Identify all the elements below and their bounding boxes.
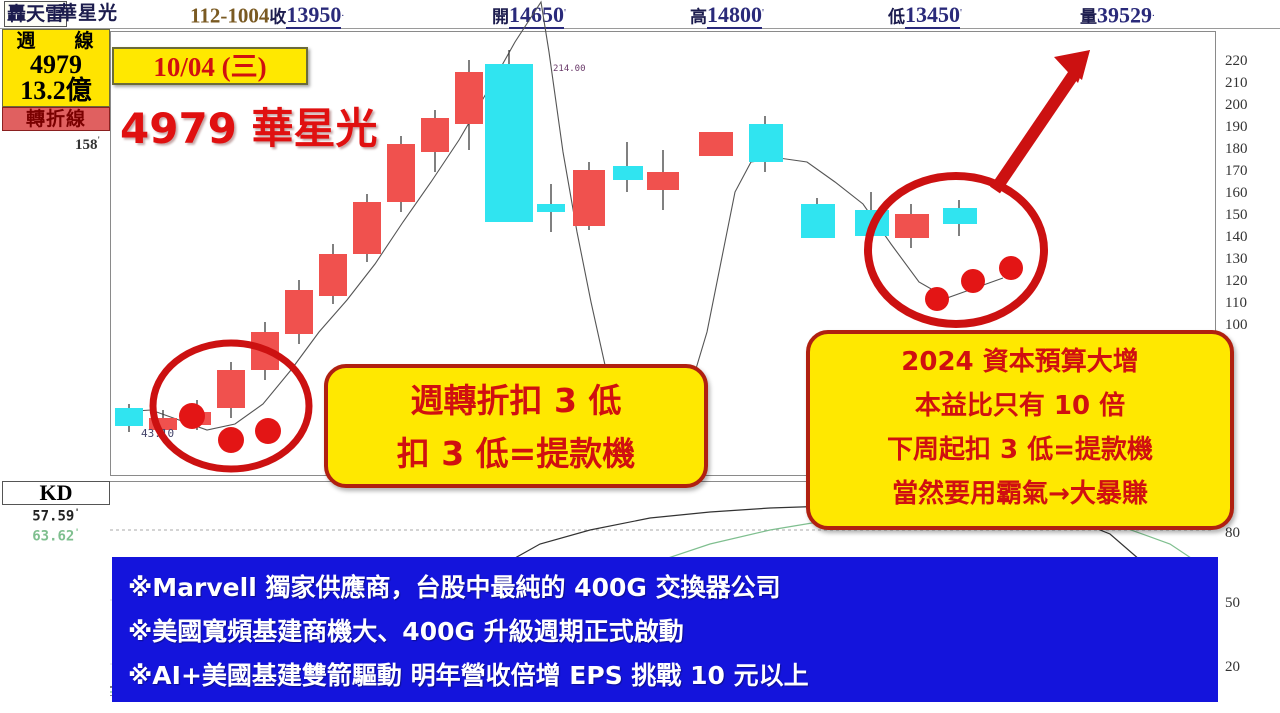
blue-banner-line-2: ※美國寬頻基建商機大、400G 升級週期正式啟動 <box>128 610 1216 654</box>
kd-d-value: 63.62' <box>2 525 110 545</box>
quote-date-close: 112-1004收13950. <box>190 1 344 30</box>
kd-axis-label: 80 <box>1225 526 1240 540</box>
quote-open: 開14650' <box>492 1 566 30</box>
quote-bar: 轟天雷 華星光 112-1004收13950. 開14650' 高14800' … <box>0 0 1280 29</box>
turnover-value: 13.2億 <box>3 78 109 104</box>
axis-label: 120 <box>1225 274 1248 288</box>
candle <box>353 194 381 262</box>
callout-right-line-1: 2024 資本預算大增 <box>824 340 1216 384</box>
axis-label: 210 <box>1225 76 1248 90</box>
date-badge: 10/04 (三) <box>112 47 308 85</box>
quote-volume-value: 39529 <box>1097 2 1152 27</box>
blue-banner-line-3: ※AI+美國基建雙箭驅動 明年營收倍增 EPS 挑戰 10 元以上 <box>128 654 1216 698</box>
candle <box>387 136 415 212</box>
candle <box>319 244 347 304</box>
axis-label: 160 <box>1225 186 1248 200</box>
callout-left: 週轉折扣 3 低 扣 3 低=提款機 <box>324 364 708 488</box>
kd-title[interactable]: KD <box>2 481 110 505</box>
left-info-column: 週 線 4979 13.2億 轉折線 158' <box>2 29 110 154</box>
period-label: 週 線 <box>3 31 109 52</box>
blue-banner-line-1: ※Marvell 獨家供應商，台股中最純的 400G 交換器公司 <box>128 566 1216 610</box>
candle <box>943 200 977 236</box>
stock-chart-screen: 轟天雷 華星光 112-1004收13950. 開14650' 高14800' … <box>0 0 1280 713</box>
stock-code: 4979 <box>3 52 109 78</box>
quote-high-value: 14800 <box>707 2 762 29</box>
callout-right-line-3: 下周起扣 3 低=提款機 <box>824 428 1216 472</box>
axis-label: 130 <box>1225 252 1248 266</box>
kd-axis-label: 20 <box>1225 660 1240 674</box>
quote-high-label: 高 <box>690 7 707 27</box>
candle <box>421 110 449 172</box>
candle <box>455 60 483 150</box>
candle <box>573 162 605 230</box>
kd-k-value: 57.59' <box>2 505 110 525</box>
candle <box>485 50 533 222</box>
callout-right-line-2: 本益比只有 10 倍 <box>824 384 1216 428</box>
indicator-value: 158' <box>2 131 110 154</box>
axis-label: 100 <box>1225 318 1248 332</box>
quote-volume: 量39529. <box>1080 1 1155 30</box>
axis-label: 140 <box>1225 230 1248 244</box>
kd-info-box: KD 57.59' 63.62' <box>2 481 110 544</box>
candle <box>749 116 783 172</box>
kd-axis-label: 50 <box>1225 596 1240 610</box>
candle <box>699 132 733 156</box>
candle <box>801 198 835 238</box>
quote-open-label: 開 <box>492 7 509 27</box>
quote-low: 低13450' <box>888 1 962 30</box>
quote-stock-name: 華星光 <box>58 1 118 25</box>
high-price-marker: 214.00 <box>553 64 586 74</box>
axis-label: 150 <box>1225 208 1248 222</box>
axis-label: 190 <box>1225 120 1248 134</box>
indicator-name-banner[interactable]: 轉折線 <box>2 107 110 131</box>
callout-right: 2024 資本預算大增 本益比只有 10 倍 下周起扣 3 低=提款機 當然要用… <box>806 330 1234 530</box>
quote-low-value: 13450 <box>905 2 960 29</box>
quote-low-label: 低 <box>888 7 905 27</box>
candle <box>895 204 929 248</box>
candle <box>217 362 245 418</box>
candle <box>647 150 679 210</box>
callout-right-line-4: 當然要用霸氣→大暴賺 <box>824 472 1216 516</box>
candle <box>285 280 313 344</box>
candle <box>115 404 143 432</box>
quote-close-value: 13950 <box>286 2 341 29</box>
quote-close-label: 收 <box>269 7 286 27</box>
quote-date-code: 112-1004 <box>190 3 269 27</box>
blue-info-banner: ※Marvell 獨家供應商，台股中最純的 400G 交換器公司 ※美國寬頻基建… <box>112 557 1218 702</box>
indicator-value-text: 158 <box>75 137 98 153</box>
low-price-marker: 43.10 <box>141 427 174 440</box>
callout-left-line-1: 週轉折扣 3 低 <box>342 374 690 427</box>
candle <box>855 192 889 262</box>
axis-label: 180 <box>1225 142 1248 156</box>
candle <box>251 322 279 380</box>
left-info-yellow-block: 週 線 4979 13.2億 <box>2 29 110 107</box>
candle <box>537 184 565 232</box>
axis-label: 220 <box>1225 54 1248 68</box>
candle <box>183 400 211 430</box>
candle <box>613 142 643 192</box>
quote-high: 高14800' <box>690 1 764 30</box>
page-title: 4979 華星光 <box>120 95 378 156</box>
axis-label: 110 <box>1225 296 1247 310</box>
axis-label: 170 <box>1225 164 1248 178</box>
callout-left-line-2: 扣 3 低=提款機 <box>342 427 690 480</box>
quote-volume-label: 量 <box>1080 7 1097 27</box>
quote-open-value: 14650 <box>509 2 564 29</box>
axis-label: 200 <box>1225 98 1248 112</box>
